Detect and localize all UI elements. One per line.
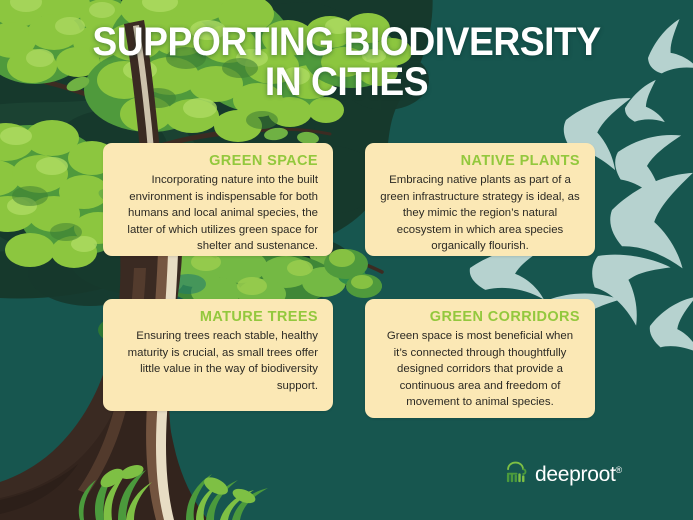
card-green-corridors: GREEN CORRIDORS Green space is most bene… [365, 299, 595, 418]
card-mature-trees-heading: MATURE TREES [118, 308, 318, 326]
deeproot-logo: deeproot® [505, 459, 622, 485]
tree-roots-icon [505, 461, 528, 484]
background-illustration [0, 0, 693, 520]
infographic-canvas: SUPPORTING BIODIVERSITY IN CITIES GREEN … [0, 0, 693, 520]
card-native-plants: NATIVE PLANTS Embracing native plants as… [365, 143, 595, 256]
card-native-plants-heading: NATIVE PLANTS [380, 152, 580, 170]
card-green-space-heading: GREEN SPACE [118, 152, 318, 170]
logo-trademark: ® [616, 465, 622, 475]
card-green-space-body: Incorporating nature into the built envi… [118, 172, 318, 255]
card-green-corridors-heading: GREEN CORRIDORS [380, 308, 580, 326]
card-green-corridors-body: Green space is most beneficial when it’s… [380, 328, 580, 411]
card-native-plants-body: Embracing native plants as part of a gre… [380, 172, 580, 255]
card-green-space: GREEN SPACE Incorporating nature into th… [103, 143, 333, 256]
logo-wordmark: deeproot® [535, 460, 622, 485]
card-mature-trees: MATURE TREES Ensuring trees reach stable… [103, 299, 333, 411]
card-mature-trees-body: Ensuring trees reach stable, healthy mat… [118, 328, 318, 394]
